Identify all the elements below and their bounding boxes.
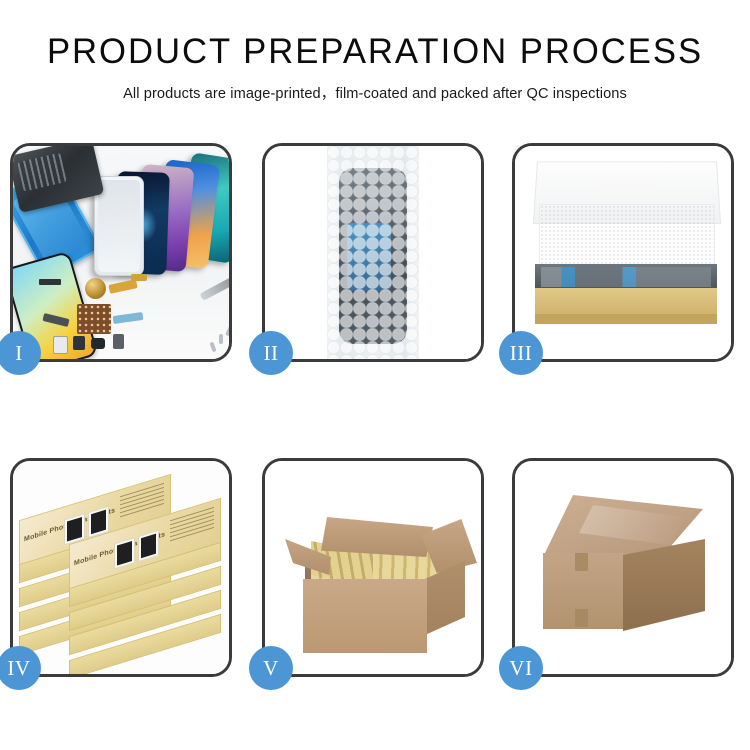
foam-lining [539, 204, 715, 272]
component-1 [73, 336, 85, 350]
bubble-highlight-layer [327, 146, 419, 359]
box-spec-lines-front [170, 507, 214, 544]
steps-grid: I II [0, 143, 750, 679]
steps-row-2: Mobile Phone Spare Parts [0, 458, 750, 679]
step-panel-2: II [262, 143, 484, 362]
flex-cable-blue [113, 312, 144, 324]
box-body-foot [535, 314, 717, 324]
bubble-wrap-scene [265, 146, 481, 359]
box-product-photo-4 [138, 530, 159, 562]
step-4-image: Mobile Phone Spare Parts [13, 461, 229, 674]
carton-flap-top [321, 517, 433, 557]
carton-tab-top [575, 553, 588, 571]
step-2-image [265, 146, 481, 359]
step-badge-3: III [499, 331, 543, 375]
chip-array-part [77, 304, 111, 334]
step-6-image [515, 461, 731, 674]
box-product-photo-3 [114, 537, 135, 569]
step-badge-1: I [0, 331, 41, 375]
wrapped-parts-row [535, 264, 717, 290]
earpiece-part [39, 279, 61, 285]
step-badge-6: VI [499, 646, 543, 690]
flex-cable-gold [108, 279, 137, 294]
open-carton-scene [265, 461, 481, 674]
step-badge-2: II [249, 331, 293, 375]
box-spec-lines-back [120, 483, 164, 520]
step-1-image [13, 146, 229, 359]
steps-row-1: I II [0, 143, 750, 363]
bubble-wrap-sleeve [327, 146, 419, 359]
phone-parts-scene [13, 146, 229, 359]
tweezers-tool [199, 275, 229, 301]
component-3 [113, 334, 124, 349]
screw-1 [219, 334, 223, 344]
component-4 [53, 336, 68, 354]
carton-tab-bottom [575, 609, 588, 627]
screw-2 [225, 326, 229, 337]
header: PRODUCT PREPARATION PROCESS All products… [0, 0, 750, 103]
step-panel-3: III [512, 143, 734, 362]
step-panel-6: VI [512, 458, 734, 677]
step-5-image [265, 461, 481, 674]
step-panel-4: Mobile Phone Spare Parts [10, 458, 232, 677]
carton-front-face [303, 579, 427, 653]
carton-face-right [623, 539, 705, 631]
stacked-boxes-scene: Mobile Phone Spare Parts [13, 461, 229, 674]
sealed-carton-scene [515, 461, 731, 674]
product-preparation-infographic: PRODUCT PREPARATION PROCESS All products… [0, 0, 750, 750]
page-subtitle: All products are image-printed，film-coat… [0, 82, 750, 103]
screw-3 [209, 342, 216, 353]
step-panel-5: V [262, 458, 484, 677]
step-panel-1: I [10, 143, 232, 362]
component-2 [91, 338, 105, 349]
inner-box-scene [515, 146, 731, 359]
box-stack-front: Mobile Phone Spare Parts [69, 521, 221, 667]
component-5 [131, 274, 147, 281]
step-badge-4: IV [0, 646, 41, 690]
step-badge-5: V [249, 646, 293, 690]
page-title: PRODUCT PREPARATION PROCESS [4, 34, 747, 69]
speaker-part [85, 278, 106, 299]
step-3-image [515, 146, 731, 359]
